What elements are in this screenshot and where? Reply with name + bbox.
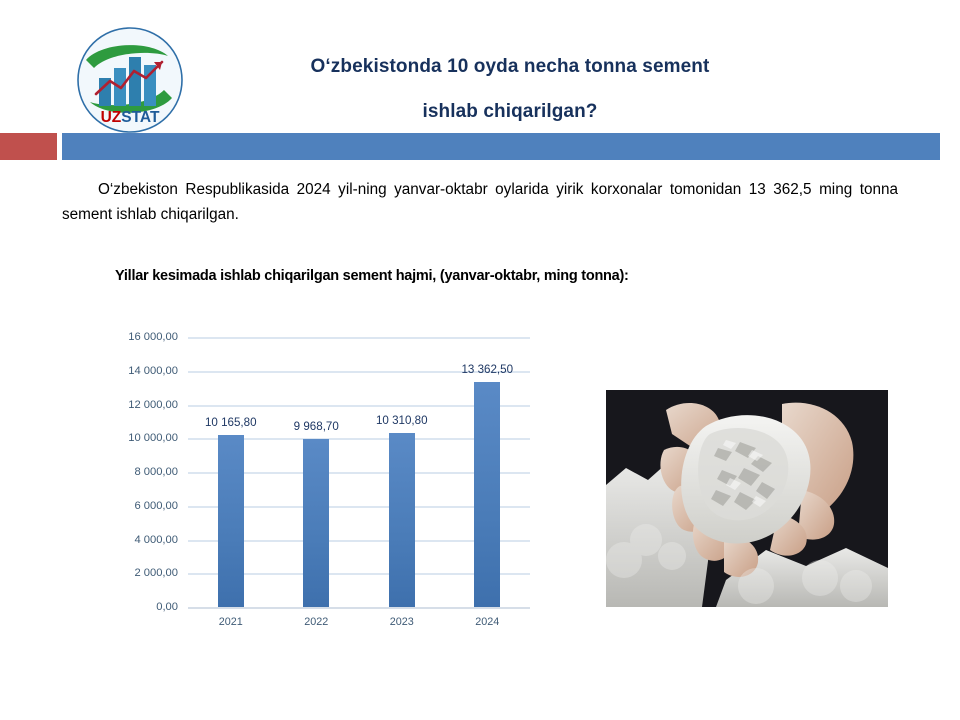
accent-bar-red [0, 133, 57, 160]
paragraph-text: O‘zbekiston Respublikasida 2024 yil-ning… [62, 181, 898, 223]
body-paragraph: O‘zbekiston Respublikasida 2024 yil-ning… [62, 177, 898, 227]
y-axis-tick-label: 4 000,00 [58, 534, 178, 546]
gridline [188, 607, 530, 609]
bar-value-label-2024: 13 362,50 [461, 363, 513, 376]
page-title-line-1: O‘zbekistonda 10 oyda necha tonna sement [205, 44, 815, 89]
bar-2023[interactable] [389, 433, 415, 607]
uzstat-logo: UZSTAT [76, 26, 184, 134]
bar-2024[interactable] [474, 382, 500, 607]
chart-plot-area: 16 000,0014 000,0012 000,0010 000,008 00… [188, 337, 530, 607]
chart-caption: Yillar kesimada ishlab chiqarilgan semen… [115, 268, 629, 284]
bar-value-label-2022: 9 968,70 [294, 420, 339, 433]
bar-group: 10 165,802021 [188, 337, 274, 607]
page-title-line-2: ishlab chiqarilgan? [205, 89, 815, 134]
x-axis-tick-label-2022: 2022 [304, 616, 328, 628]
y-axis-tick-label: 16 000,00 [58, 331, 178, 343]
y-axis-tick-label: 14 000,00 [58, 365, 178, 377]
y-axis-tick-label: 10 000,00 [58, 432, 178, 444]
bar-group: 13 362,502024 [445, 337, 531, 607]
bar-group: 10 310,802023 [359, 337, 445, 607]
y-axis-tick-label: 12 000,00 [58, 399, 178, 411]
y-axis-tick-label: 8 000,00 [58, 466, 178, 478]
bar-2021[interactable] [218, 435, 244, 607]
bar-value-label-2021: 10 165,80 [205, 416, 257, 429]
bar-group: 9 968,702022 [274, 337, 360, 607]
svg-text:UZSTAT: UZSTAT [101, 109, 160, 126]
page-title: O‘zbekistonda 10 oyda necha tonna sement… [205, 44, 815, 134]
y-axis-tick-label: 0,00 [58, 601, 178, 613]
cement-photo [606, 390, 888, 607]
x-axis-tick-label-2021: 2021 [219, 616, 243, 628]
y-axis-tick-label: 6 000,00 [58, 500, 178, 512]
y-axis-tick-label: 2 000,00 [58, 567, 178, 579]
bar-value-label-2023: 10 310,80 [376, 414, 428, 427]
cement-production-bar-chart: 16 000,0014 000,0012 000,0010 000,008 00… [112, 322, 542, 634]
x-axis-tick-label-2024: 2024 [475, 616, 499, 628]
bar-2022[interactable] [303, 439, 329, 607]
accent-bar-blue [62, 133, 940, 160]
x-axis-tick-label-2023: 2023 [390, 616, 414, 628]
